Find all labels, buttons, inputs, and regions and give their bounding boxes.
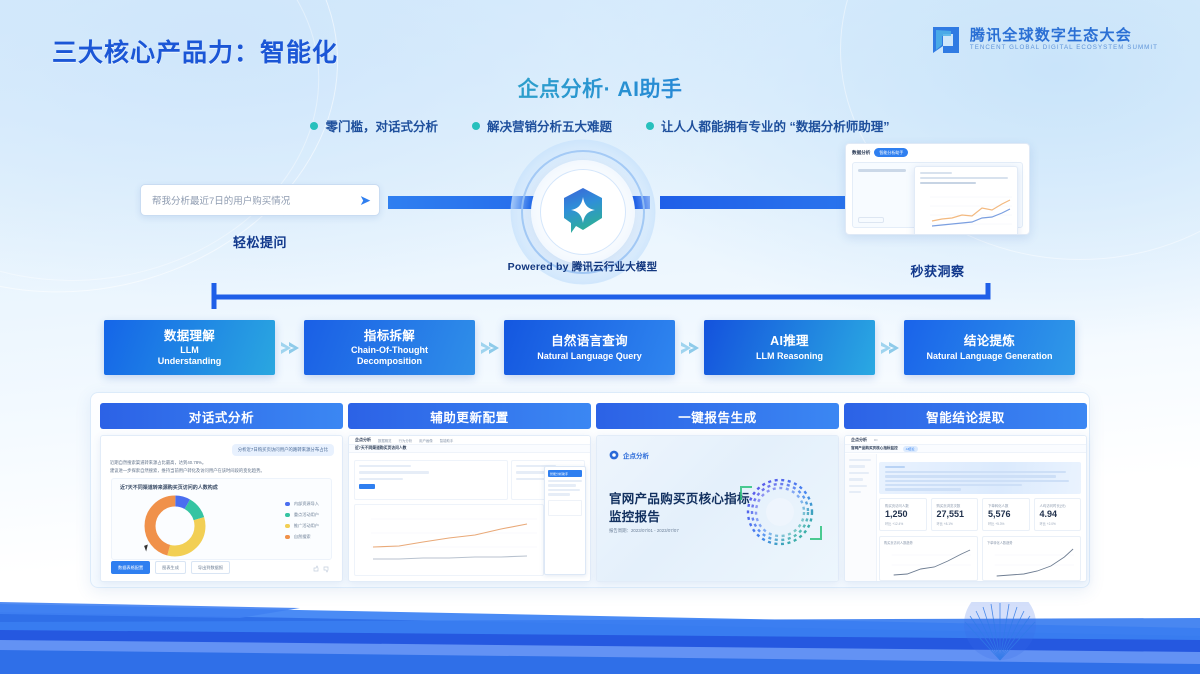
kpi-row: 购买页访问人数 1,250 环比 +12.4% 购买页浏览次数 27,551 环…: [879, 498, 1081, 531]
trend-chart-card: 下单转化人数趋势: [982, 536, 1081, 581]
mock-app-logo: 企点分析: [355, 437, 371, 443]
mock-nav-item[interactable]: 行为分析: [399, 438, 413, 443]
bullet-dot-icon: [472, 122, 480, 130]
assistant-drawer-title: 智能分析助手: [548, 470, 582, 477]
ask-question-block: 帮我分析最近7日的用户购买情况 ➤ 轻松提问: [140, 184, 380, 251]
slide-canvas: 三大核心产品力：智能化 腾讯全球数字生态大会 TENCENT GLOBAL DI…: [0, 0, 1200, 674]
step-title-cn: 结论提炼: [964, 334, 1015, 349]
tencent-summit-mark-icon: [931, 24, 961, 56]
step-title-en: LLM Reasoning: [756, 351, 823, 362]
card-preview: 分析近7日购买页访问用户的路转来源分布占比 近期自然搜索渠道转来源占比最高，达到…: [100, 435, 343, 582]
product-subtitle: 企点分析· AI助手: [0, 73, 1200, 103]
step-title-cn: 数据理解: [164, 329, 215, 344]
mock-app-topbar: 企点分析 数据概览 行为分析 用户画像 智能助手: [349, 436, 590, 445]
report-donut-graphic: [728, 460, 832, 564]
card-preview: 企点分析 官网产品购买页核心指标 监控报告 报告周期：2023/07/01 - …: [596, 435, 839, 582]
preview-line-chart: [920, 191, 1014, 233]
action-chip[interactable]: 数据表格配置: [111, 561, 150, 574]
kpi-label: 人均访问时长(分): [1040, 503, 1076, 508]
pipeline-step[interactable]: 数据理解 LLM Understanding: [104, 320, 275, 375]
legend-entry: 重点活动用户: [285, 512, 319, 518]
showcase-card: 一键报告生成 企点分析 官网产品购买页核心指标 监控报告 报告周期：2023/0…: [596, 403, 839, 582]
insight-line: 近期自然搜索渠道转来源占比最高，达到40.78%。: [110, 460, 206, 466]
step-title-en: Chain-Of-Thought Decomposition: [351, 345, 428, 366]
kpi-card: 购买页浏览次数 27,551 环比 +8.1%: [931, 498, 979, 531]
kpi-value: 5,576: [988, 509, 1024, 519]
showcase-card: 对话式分析 分析近7日购买页访问用户的路转来源分布占比 近期自然搜索渠道转来源占…: [100, 403, 343, 582]
qidian-logo-icon: [609, 450, 619, 460]
feature-bullet: 让人人都能拥有专业的 “数据分析师助理”: [646, 116, 889, 135]
kpi-value: 4.94: [1040, 509, 1076, 519]
card-title: 对话式分析: [100, 403, 343, 429]
bullet-dot-icon: [646, 122, 654, 130]
mock-nav-item[interactable]: 数据概览: [378, 438, 392, 443]
mock-trend-line: [987, 547, 1076, 579]
send-arrow-icon[interactable]: ➤: [359, 193, 371, 207]
step-title-en: Natural Language Generation: [926, 351, 1052, 362]
feature-bullet: 解决营销分析五大难题: [472, 116, 612, 135]
mock-trend-line: [884, 547, 973, 579]
donut-chart: [142, 493, 208, 559]
powered-by-label: Powered by 腾讯云行业大模型: [455, 259, 710, 274]
preview-footer-button[interactable]: [858, 217, 884, 223]
step-title-cn: AI推理: [770, 334, 809, 349]
ai-hexagon-sparkle-icon: [559, 186, 607, 238]
mock-chart-panel: [354, 504, 544, 576]
trend-chart-title: 下单转化人数趋势: [987, 540, 1076, 545]
step-title-cn: 指标拆解: [364, 329, 415, 344]
chat-user-bubble: 分析近7日购买页访问用户的路转来源分布占比: [232, 444, 334, 456]
card-preview: 企点分析 数据概览 行为分析 用户画像 智能助手 近7天不同渠道购买页访问人数: [348, 435, 591, 582]
kpi-card: 人均访问时长(分) 4.94 环比 +2.0%: [1034, 498, 1082, 531]
showcase-cards: 对话式分析 分析近7日购买页访问用户的路转来源分布占比 近期自然搜索渠道转来源占…: [100, 403, 1087, 582]
brand-name-cn: 腾讯全球数字生态大会: [970, 28, 1158, 43]
preview-window-body: 新增购买用户 老客购买用户: [852, 162, 1023, 228]
report-brand-label: 企点分析: [623, 450, 649, 460]
step-chevron-icon: [475, 340, 504, 356]
ask-caption: 轻松提问: [140, 232, 380, 251]
card-title: 一键报告生成: [596, 403, 839, 429]
trend-chart-row: 购买页访问人数趋势 下单转化人数趋势: [879, 536, 1081, 581]
bullet-label: 解决营销分析五大难题: [487, 116, 612, 135]
ai-summary-block: [879, 462, 1081, 494]
mock-page-title: 近7天不同渠道购买页访问人数: [355, 446, 406, 451]
ai-conclusion-badge: AI结论: [903, 446, 918, 452]
page-title: 三大核心产品力：智能化: [52, 33, 338, 69]
insight-line: 建议进一步探索自然搜索，维持当前用户转化及访问用户在该时间段的变化趋势。: [110, 468, 265, 474]
mock-sidebar: [845, 454, 877, 581]
kpi-label: 下单转化人数: [988, 503, 1024, 508]
preview-text-line: [920, 177, 1008, 179]
kpi-value: 27,551: [937, 509, 973, 519]
mock-page-header: 近7天不同渠道购买页访问人数: [349, 445, 590, 453]
report-title-line2: 监控报告: [609, 506, 660, 525]
feature-bullets: 零门槛，对话式分析 解决营销分析五大难题 让人人都能拥有专业的 “数据分析师助理…: [0, 116, 1200, 135]
bullet-label: 零门槛，对话式分析: [325, 116, 438, 135]
legend-entry: 推广活动用户: [285, 523, 319, 529]
showcase-card: 辅助更新配置 企点分析 数据概览 行为分析 用户画像 智能助手 近7天不同渠道购…: [348, 403, 591, 582]
feedback-icons[interactable]: [312, 565, 334, 573]
preview-assistant-pill: 智能分析助手: [874, 148, 908, 157]
step-title-en: LLM Understanding: [158, 345, 222, 366]
chart-legend: 内部资源导入 重点活动用户 推广活动用户 自然搜索: [285, 501, 319, 540]
step-chevron-icon: [275, 340, 304, 356]
mock-app-logo: 企点分析: [851, 437, 867, 443]
showcase-card: 智能结论提取 企点分析 ••• 官网产品购买页核心指标监控 AI结论: [844, 403, 1087, 582]
kpi-label: 购买页浏览次数: [937, 503, 973, 508]
brand-name-en: TENCENT GLOBAL DIGITAL ECOSYSTEM SUMMIT: [970, 45, 1158, 51]
card-preview: 企点分析 ••• 官网产品购买页核心指标监控 AI结论: [844, 435, 1087, 582]
kpi-value: 1,250: [885, 509, 921, 519]
preview-text-line: [920, 172, 952, 174]
mock-page-title: 官网产品购买页核心指标监控: [851, 446, 898, 451]
pipeline-step[interactable]: 自然语言查询 Natural Language Query: [504, 320, 675, 375]
kpi-card: 下单转化人数 5,576 环比 +5.3%: [982, 498, 1030, 531]
result-caption: 秒获洞察: [845, 261, 1030, 280]
preview-placeholder-line: [858, 169, 906, 172]
trend-chart-card: 购买页访问人数趋势: [879, 536, 978, 581]
insight-preview: 数据分析 智能分析助手: [845, 143, 1030, 235]
bullet-label: 让人人都能拥有专业的 “数据分析师助理”: [661, 116, 889, 135]
card-title: 辅助更新配置: [348, 403, 591, 429]
footer-decoration: [0, 578, 1200, 674]
mock-nav-item[interactable]: 智能助手: [440, 438, 454, 443]
question-input-value: 帮我分析最近7日的用户购买情况: [152, 193, 359, 207]
question-input[interactable]: 帮我分析最近7日的用户购买情况 ➤: [140, 184, 380, 216]
step-title-en: Natural Language Query: [537, 351, 642, 362]
preview-chart-caption: [920, 182, 976, 184]
kpi-delta: 环比 +5.3%: [988, 521, 1024, 526]
mock-nav-item[interactable]: 用户画像: [419, 438, 433, 443]
step-title-cn: 自然语言查询: [551, 334, 628, 349]
legend-entry: 内部资源导入: [285, 501, 319, 507]
trend-chart-title: 购买页访问人数趋势: [884, 540, 973, 545]
pipeline-step[interactable]: AI推理 LLM Reasoning: [704, 320, 875, 375]
report-brand: 企点分析: [609, 450, 649, 460]
mock-line-chart: [359, 509, 539, 565]
card-title: 智能结论提取: [844, 403, 1087, 429]
kpi-label: 购买页访问人数: [885, 503, 921, 508]
kpi-card: 购买页访问人数 1,250 环比 +12.4%: [879, 498, 927, 531]
step-chevron-icon: [675, 340, 704, 356]
event-brand-logo: 腾讯全球数字生态大会 TENCENT GLOBAL DIGITAL ECOSYS…: [931, 24, 1158, 56]
preview-app-title: 数据分析: [852, 150, 870, 156]
feature-bullet: 零门槛，对话式分析: [310, 116, 438, 135]
report-meta: 报告周期：2023/07/01 - 2023/07/07: [609, 528, 679, 534]
preview-window-header: 数据分析 智能分析助手: [846, 144, 1029, 161]
pipeline-steps: 数据理解 LLM Understanding 指标拆解 Chain-Of-Tho…: [104, 320, 1075, 375]
step-chevron-icon: [875, 340, 904, 356]
card-action-chips: 数据表格配置 图表生成 导出到数据报: [111, 561, 230, 574]
mock-nav-item[interactable]: •••: [874, 438, 878, 442]
pipeline-step[interactable]: 结论提炼 Natural Language Generation: [904, 320, 1075, 375]
kpi-delta: 环比 +12.4%: [885, 521, 921, 526]
chart-title: 近7天不同渠道转来源购买页访问的人数构成: [120, 484, 218, 491]
pipeline-step[interactable]: 指标拆解 Chain-Of-Thought Decomposition: [304, 320, 475, 375]
bullet-dot-icon: [310, 122, 318, 130]
kpi-delta: 环比 +8.1%: [937, 521, 973, 526]
preview-window: 数据分析 智能分析助手: [845, 143, 1030, 235]
mock-app-topbar: 企点分析 •••: [845, 436, 1086, 445]
action-chip[interactable]: 导出到数据报: [191, 561, 230, 574]
mock-filter-panel: [354, 460, 508, 500]
kpi-delta: 环比 +2.0%: [1040, 521, 1076, 526]
mock-page-header: 官网产品购买页核心指标监控 AI结论: [845, 445, 1086, 453]
footer-fan-icon: [945, 602, 1055, 664]
flow-bracket-connector: [208, 283, 994, 313]
legend-entry: 自然搜索: [285, 534, 319, 540]
preview-insight-card: 新增购买用户 老客购买用户: [914, 166, 1018, 235]
action-chip[interactable]: 图表生成: [155, 561, 186, 574]
mock-assistant-drawer: 智能分析助手: [544, 466, 586, 575]
